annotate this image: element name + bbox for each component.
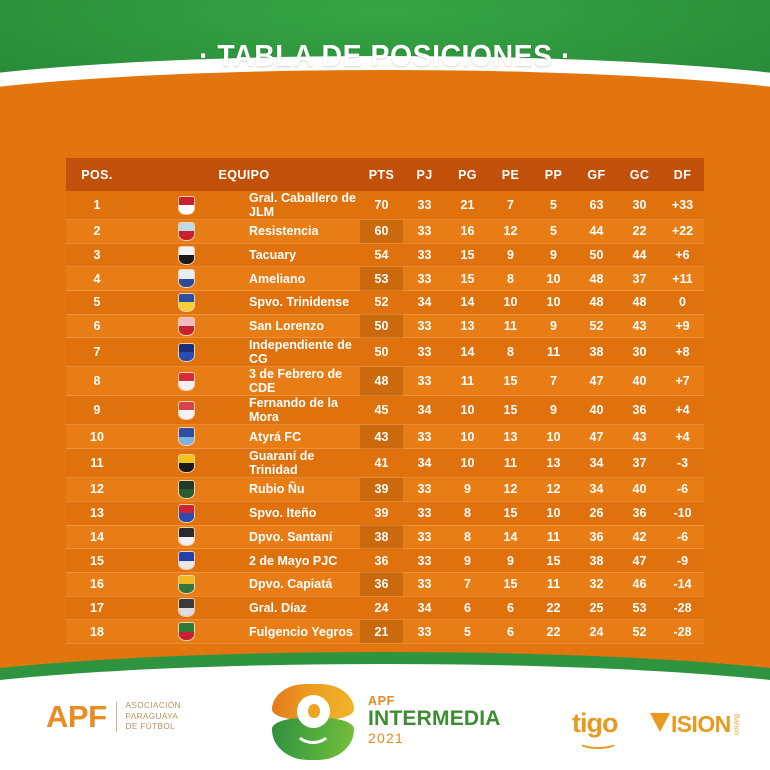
cell-position: 17 — [66, 596, 128, 620]
cell-pts: 45 — [360, 396, 403, 425]
cell-position: 9 — [66, 396, 128, 425]
cell-gc: 30 — [618, 338, 661, 367]
cell-pp: 9 — [532, 243, 575, 267]
cell-pts: 53 — [360, 267, 403, 291]
cell-df: +33 — [661, 191, 704, 220]
team-crest-icon — [128, 220, 244, 244]
crest-shape — [178, 427, 195, 446]
cell-gc: 40 — [618, 367, 661, 396]
cell-team-name: Spvo. Trinidense — [244, 291, 360, 315]
team-crest-icon — [128, 572, 244, 596]
team-crest-icon — [128, 525, 244, 549]
cell-pg: 11 — [446, 367, 489, 396]
cell-gf: 32 — [575, 572, 618, 596]
table-row[interactable]: 1Gral. Caballero de JLM703321756330+33 — [66, 191, 704, 220]
cell-team-name: Gral. Caballero de JLM — [244, 191, 360, 220]
crest-shape — [178, 480, 195, 499]
cell-pg: 8 — [446, 501, 489, 525]
crest-shape — [178, 454, 195, 473]
cell-gf: 38 — [575, 338, 618, 367]
cell-gc: 43 — [618, 314, 661, 338]
cell-pg: 8 — [446, 525, 489, 549]
cell-pj: 33 — [403, 367, 446, 396]
cell-pts: 38 — [360, 525, 403, 549]
apf-divider — [116, 702, 117, 732]
cell-pe: 12 — [489, 220, 532, 244]
team-crest-icon — [128, 449, 244, 478]
cell-pg: 15 — [446, 243, 489, 267]
apf-intermedia-logo: APF INTERMEDIA 2021 — [272, 680, 501, 760]
cell-gc: 44 — [618, 243, 661, 267]
cell-gc: 36 — [618, 501, 661, 525]
cell-gf: 38 — [575, 549, 618, 573]
cell-pp: 7 — [532, 367, 575, 396]
crest-shape — [178, 372, 195, 391]
cell-pe: 8 — [489, 267, 532, 291]
table-row[interactable]: 10Atyrá FC43331013104743+4 — [66, 425, 704, 449]
table-row[interactable]: 2Resistencia6033161254422+22 — [66, 220, 704, 244]
team-crest-icon — [128, 191, 244, 220]
cell-team-name: Gral. Díaz — [244, 596, 360, 620]
cell-pg: 15 — [446, 267, 489, 291]
team-crest-icon — [128, 620, 244, 644]
cell-gf: 48 — [575, 291, 618, 315]
cell-pe: 15 — [489, 572, 532, 596]
cell-pp: 13 — [532, 449, 575, 478]
cell-pj: 33 — [403, 425, 446, 449]
cell-pp: 10 — [532, 291, 575, 315]
cell-pp: 10 — [532, 501, 575, 525]
team-crest-icon — [128, 291, 244, 315]
cell-position: 7 — [66, 338, 128, 367]
cell-position: 4 — [66, 267, 128, 291]
cell-pts: 39 — [360, 478, 403, 502]
team-crest-icon — [128, 596, 244, 620]
crest-shape — [178, 343, 195, 362]
cell-df: -14 — [661, 572, 704, 596]
table-row[interactable]: 4Ameliano5333158104837+11 — [66, 267, 704, 291]
vision-banco-logo: ISION Banco — [650, 713, 740, 736]
cell-df: +11 — [661, 267, 704, 291]
cell-df: -6 — [661, 478, 704, 502]
apf-wordmark: APF — [46, 699, 107, 735]
cell-gc: 48 — [618, 291, 661, 315]
cell-pp: 12 — [532, 478, 575, 502]
column-header-gf: GF — [575, 158, 618, 191]
cell-df: -3 — [661, 449, 704, 478]
team-crest-icon — [128, 314, 244, 338]
cell-pts: 48 — [360, 367, 403, 396]
intermedia-text-block: APF INTERMEDIA 2021 — [368, 694, 501, 747]
cell-pg: 9 — [446, 549, 489, 573]
football-badge-icon — [272, 680, 354, 760]
cell-gf: 52 — [575, 314, 618, 338]
table-row[interactable]: 7Independiente de CG5033148113830+8 — [66, 338, 704, 367]
cell-df: -9 — [661, 549, 704, 573]
team-crest-icon — [128, 549, 244, 573]
cell-gc: 52 — [618, 620, 661, 644]
cell-pg: 13 — [446, 314, 489, 338]
cell-pp: 22 — [532, 620, 575, 644]
table-head: POS. EQUIPO PTS PJ PG PE PP GF GC DF — [66, 158, 704, 191]
apf-logo: APF ASOCIACIÓN PARAGUAYA DE FÚTBOL — [46, 699, 181, 735]
cell-pe: 11 — [489, 314, 532, 338]
cell-position: 6 — [66, 314, 128, 338]
cell-df: +22 — [661, 220, 704, 244]
cell-df: +8 — [661, 338, 704, 367]
table-row[interactable]: 18Fulgencio Yegros213356222452-28 — [66, 620, 704, 644]
crest-shape — [178, 527, 195, 546]
cell-pp: 5 — [532, 220, 575, 244]
cell-team-name: Dpvo. Santaní — [244, 525, 360, 549]
cell-pe: 14 — [489, 525, 532, 549]
cell-df: -28 — [661, 596, 704, 620]
cell-pg: 10 — [446, 425, 489, 449]
cell-position: 3 — [66, 243, 128, 267]
cell-gf: 47 — [575, 367, 618, 396]
cell-pts: 54 — [360, 243, 403, 267]
cell-pg: 16 — [446, 220, 489, 244]
crest-shape — [178, 269, 195, 288]
cell-pts: 21 — [360, 620, 403, 644]
cell-position: 8 — [66, 367, 128, 396]
cell-gf: 50 — [575, 243, 618, 267]
cell-team-name: Guaraní de Trinidad — [244, 449, 360, 478]
cell-pp: 9 — [532, 314, 575, 338]
cell-pj: 33 — [403, 267, 446, 291]
cell-df: -28 — [661, 620, 704, 644]
standings-infographic: · TABLA DE POSICIONES · POS. EQUIPO PTS … — [0, 0, 770, 770]
cell-pj: 33 — [403, 191, 446, 220]
cell-pe: 8 — [489, 338, 532, 367]
cell-pts: 41 — [360, 449, 403, 478]
cell-pe: 10 — [489, 291, 532, 315]
cell-team-name: 3 de Febrero de CDE — [244, 367, 360, 396]
cell-gc: 43 — [618, 425, 661, 449]
cell-team-name: Tacuary — [244, 243, 360, 267]
cell-df: +7 — [661, 367, 704, 396]
footer-logos: APF ASOCIACIÓN PARAGUAYA DE FÚTBOL APF — [0, 666, 770, 770]
cell-team-name: Dpvo. Capiatá — [244, 572, 360, 596]
cell-position: 2 — [66, 220, 128, 244]
cell-pts: 50 — [360, 314, 403, 338]
team-crest-icon — [128, 338, 244, 367]
table-row[interactable]: 11Guaraní de Trinidad41341011133437-3 — [66, 449, 704, 478]
cell-team-name: Rubio Ñu — [244, 478, 360, 502]
cell-gf: 63 — [575, 191, 618, 220]
cell-gc: 37 — [618, 267, 661, 291]
column-header-pos: POS. — [66, 158, 128, 191]
apf-subtitle: ASOCIACIÓN PARAGUAYA DE FÚTBOL — [126, 701, 181, 733]
cell-pj: 33 — [403, 338, 446, 367]
cell-team-name: Ameliano — [244, 267, 360, 291]
tigo-wordmark: tigo — [572, 708, 617, 738]
standings-table: POS. EQUIPO PTS PJ PG PE PP GF GC DF 1Gr… — [66, 158, 704, 644]
cell-pp: 9 — [532, 396, 575, 425]
table-row[interactable]: 17Gral. Díaz243466222553-28 — [66, 596, 704, 620]
table-row[interactable]: 14Dpvo. Santaní3833814113642-6 — [66, 525, 704, 549]
cell-team-name: Independiente de CG — [244, 338, 360, 367]
cell-pe: 7 — [489, 191, 532, 220]
team-crest-icon — [128, 501, 244, 525]
cell-pp: 10 — [532, 267, 575, 291]
cell-team-name: Atyrá FC — [244, 425, 360, 449]
cell-pj: 34 — [403, 396, 446, 425]
table-row[interactable]: 3Tacuary543315995044+6 — [66, 243, 704, 267]
column-header-pe: PE — [489, 158, 532, 191]
cell-pe: 15 — [489, 367, 532, 396]
standings-table-container: POS. EQUIPO PTS PJ PG PE PP GF GC DF 1Gr… — [66, 158, 704, 644]
crest-shape — [178, 196, 195, 215]
column-header-pp: PP — [532, 158, 575, 191]
cell-team-name: Fernando de la Mora — [244, 396, 360, 425]
table-header-row: POS. EQUIPO PTS PJ PG PE PP GF GC DF — [66, 158, 704, 191]
cell-position: 15 — [66, 549, 128, 573]
cell-pj: 33 — [403, 220, 446, 244]
cell-pj: 33 — [403, 572, 446, 596]
crest-shape — [178, 293, 195, 312]
table-row[interactable]: 12Rubio Ñu3933912123440-6 — [66, 478, 704, 502]
cell-gc: 53 — [618, 596, 661, 620]
crest-shape — [178, 246, 195, 265]
cell-pj: 33 — [403, 525, 446, 549]
table-row[interactable]: 16Dpvo. Capiatá3633715113246-14 — [66, 572, 704, 596]
cell-pts: 50 — [360, 338, 403, 367]
cell-pts: 60 — [360, 220, 403, 244]
soccer-ball-icon — [300, 698, 327, 725]
cell-pj: 33 — [403, 501, 446, 525]
cell-gf: 48 — [575, 267, 618, 291]
cell-pg: 9 — [446, 478, 489, 502]
cell-gf: 26 — [575, 501, 618, 525]
column-header-team: EQUIPO — [128, 158, 360, 191]
cell-pe: 15 — [489, 396, 532, 425]
tigo-logo: tigo — [572, 708, 617, 739]
crest-shape — [178, 401, 195, 420]
cell-pe: 11 — [489, 449, 532, 478]
team-crest-icon — [128, 425, 244, 449]
crest-shape — [178, 317, 195, 336]
apf-subtitle-line2: PARAGUAYA — [126, 712, 179, 721]
cell-pp: 11 — [532, 525, 575, 549]
cell-pp: 5 — [532, 191, 575, 220]
cell-position: 5 — [66, 291, 128, 315]
cell-gc: 36 — [618, 396, 661, 425]
footer-banner: APF ASOCIACIÓN PARAGUAYA DE FÚTBOL APF — [0, 648, 770, 770]
vision-wordmark: ISION — [671, 713, 731, 736]
cell-pe: 9 — [489, 549, 532, 573]
cell-pg: 7 — [446, 572, 489, 596]
cell-gf: 47 — [575, 425, 618, 449]
cell-df: +4 — [661, 425, 704, 449]
cell-position: 16 — [66, 572, 128, 596]
team-crest-icon — [128, 367, 244, 396]
cell-team-name: San Lorenzo — [244, 314, 360, 338]
cell-df: -6 — [661, 525, 704, 549]
column-header-pg: PG — [446, 158, 489, 191]
cell-pp: 15 — [532, 549, 575, 573]
page-title: · TABLA DE POSICIONES · — [31, 38, 739, 74]
crest-shape — [178, 598, 195, 617]
column-header-pts: PTS — [360, 158, 403, 191]
team-crest-icon — [128, 478, 244, 502]
vision-banco-label: Banco — [733, 714, 740, 735]
cell-team-name: Spvo. Iteño — [244, 501, 360, 525]
cell-gf: 34 — [575, 449, 618, 478]
cell-pg: 10 — [446, 396, 489, 425]
crest-shape — [178, 222, 195, 241]
apf-subtitle-line3: DE FÚTBOL — [126, 722, 176, 731]
cell-pg: 14 — [446, 338, 489, 367]
cell-df: +4 — [661, 396, 704, 425]
cell-pts: 70 — [360, 191, 403, 220]
cell-pg: 21 — [446, 191, 489, 220]
cell-pts: 39 — [360, 501, 403, 525]
cell-df: +6 — [661, 243, 704, 267]
table-row[interactable]: 9Fernando de la Mora4534101594036+4 — [66, 396, 704, 425]
intermedia-year: 2021 — [368, 730, 501, 746]
cell-pg: 5 — [446, 620, 489, 644]
crest-shape — [178, 504, 195, 523]
header-orange-curve — [0, 70, 770, 118]
cell-pts: 43 — [360, 425, 403, 449]
cell-pj: 34 — [403, 449, 446, 478]
table-row[interactable]: 6San Lorenzo5033131195243+9 — [66, 314, 704, 338]
intermedia-title: INTERMEDIA — [368, 708, 501, 731]
crest-shape — [178, 551, 195, 570]
cell-gc: 42 — [618, 525, 661, 549]
cell-team-name: Fulgencio Yegros — [244, 620, 360, 644]
cell-pj: 33 — [403, 620, 446, 644]
cell-position: 14 — [66, 525, 128, 549]
cell-gf: 25 — [575, 596, 618, 620]
cell-gf: 24 — [575, 620, 618, 644]
cell-position: 18 — [66, 620, 128, 644]
cell-pe: 12 — [489, 478, 532, 502]
column-header-df: DF — [661, 158, 704, 191]
cell-pj: 33 — [403, 478, 446, 502]
cell-pp: 10 — [532, 425, 575, 449]
cell-pts: 24 — [360, 596, 403, 620]
cell-gc: 46 — [618, 572, 661, 596]
cell-gf: 44 — [575, 220, 618, 244]
cell-team-name: Resistencia — [244, 220, 360, 244]
cell-df: -10 — [661, 501, 704, 525]
cell-df: +9 — [661, 314, 704, 338]
table-row[interactable]: 13Spvo. Iteño3933815102636-10 — [66, 501, 704, 525]
cell-pp: 11 — [532, 572, 575, 596]
table-row[interactable]: 152 de Mayo PJC363399153847-9 — [66, 549, 704, 573]
table-body: 1Gral. Caballero de JLM703321756330+332R… — [66, 191, 704, 643]
cell-gc: 47 — [618, 549, 661, 573]
cell-gc: 22 — [618, 220, 661, 244]
column-header-pj: PJ — [403, 158, 446, 191]
apf-subtitle-line1: ASOCIACIÓN — [126, 701, 181, 710]
cell-pg: 10 — [446, 449, 489, 478]
cell-pp: 11 — [532, 338, 575, 367]
cell-gf: 36 — [575, 525, 618, 549]
cell-pj: 34 — [403, 291, 446, 315]
tigo-smile-icon — [578, 735, 618, 749]
crest-shape — [178, 575, 195, 594]
cell-pg: 14 — [446, 291, 489, 315]
team-crest-icon — [128, 267, 244, 291]
cell-pj: 33 — [403, 243, 446, 267]
table-row[interactable]: 5Spvo. Trinidense523414101048480 — [66, 291, 704, 315]
team-crest-icon — [128, 243, 244, 267]
cell-pe: 9 — [489, 243, 532, 267]
cell-position: 11 — [66, 449, 128, 478]
cell-pp: 22 — [532, 596, 575, 620]
cell-pts: 36 — [360, 549, 403, 573]
table-row[interactable]: 83 de Febrero de CDE4833111574740+7 — [66, 367, 704, 396]
team-crest-icon — [128, 396, 244, 425]
cell-pj: 33 — [403, 549, 446, 573]
cell-position: 13 — [66, 501, 128, 525]
cell-df: 0 — [661, 291, 704, 315]
cell-gc: 30 — [618, 191, 661, 220]
cell-pts: 52 — [360, 291, 403, 315]
cell-pj: 34 — [403, 596, 446, 620]
cell-position: 1 — [66, 191, 128, 220]
cell-gc: 40 — [618, 478, 661, 502]
cell-position: 10 — [66, 425, 128, 449]
cell-position: 12 — [66, 478, 128, 502]
cell-team-name: 2 de Mayo PJC — [244, 549, 360, 573]
cell-pe: 6 — [489, 596, 532, 620]
cell-pts: 36 — [360, 572, 403, 596]
cell-pe: 13 — [489, 425, 532, 449]
cell-pg: 6 — [446, 596, 489, 620]
column-header-gc: GC — [618, 158, 661, 191]
cell-gc: 37 — [618, 449, 661, 478]
cell-gf: 34 — [575, 478, 618, 502]
crest-shape — [178, 622, 195, 641]
cell-gf: 40 — [575, 396, 618, 425]
cell-pe: 6 — [489, 620, 532, 644]
intermedia-apf-label: APF — [368, 694, 501, 708]
cell-pj: 33 — [403, 314, 446, 338]
cell-pe: 15 — [489, 501, 532, 525]
